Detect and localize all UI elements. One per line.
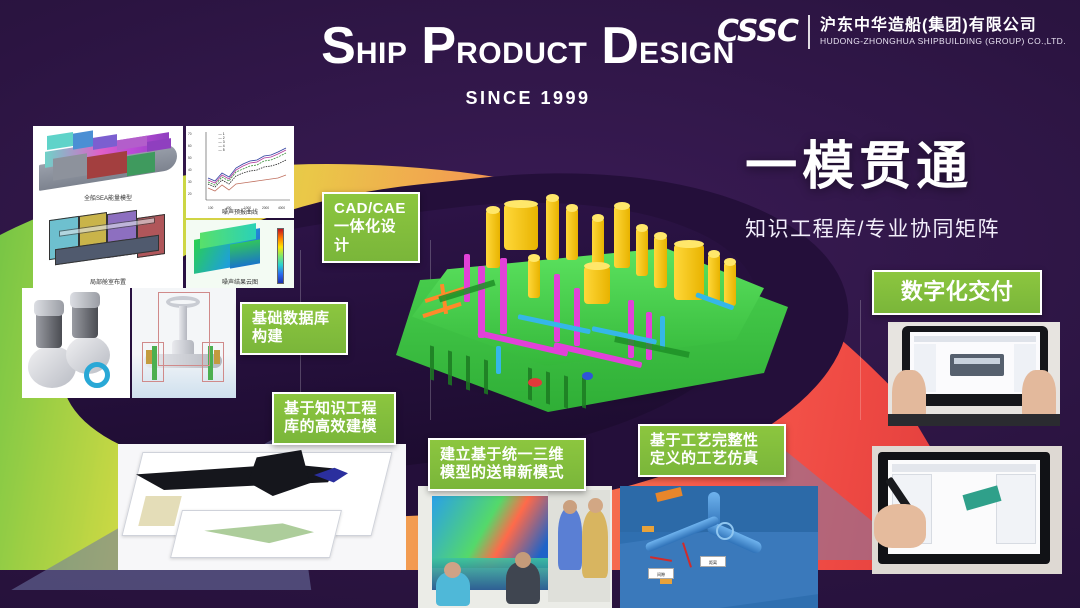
panel-caption-noise-curve: 噪声预报曲线 (186, 207, 294, 216)
connector-line-3 (860, 300, 861, 420)
tag-kbe-line-2: 库的高效建模 (284, 418, 384, 436)
hero-block: 一模贯通 知识工程库/专业协同矩阵 (745, 124, 1000, 243)
slide-header: SHIPPRODUCTDESIGN SINCE 1999 CSSC 沪东中华造船… (0, 0, 1080, 120)
tag-process-sim-line-1: 基于工艺完整性 (650, 432, 774, 450)
panel-design-review-room (418, 486, 612, 608)
tag-3d-review-line-1: 建立基于统一三维 (440, 446, 574, 464)
company-names: 沪东中华造船(集团)有限公司 HUDONG-ZHONGHUA SHIPBUILD… (820, 17, 1066, 46)
sea-energy-ship-graphic (35, 130, 181, 200)
pump-graphic (22, 288, 130, 398)
tag-process-simulation[interactable]: 基于工艺完整性 定义的工艺仿真 (638, 424, 786, 477)
tag-cad-cae[interactable]: CAD/CAE 一体化设计 (322, 192, 420, 263)
panel-noise-cloud: 噪声结果云图 (186, 220, 294, 288)
tag-3d-review[interactable]: 建立基于统一三维 模型的送审新模式 (428, 438, 586, 491)
title-word-2-cap: P (421, 17, 456, 75)
panel-sea-model: 全船SEA能量模型 局部舱室布置 (33, 126, 183, 288)
company-name-en: HUDONG-ZHONGHUA SHIPBUILDING (GROUP) CO.… (820, 36, 1066, 46)
tag-kbe-line-1: 基于知识工程 (284, 400, 384, 418)
tag-cad-cae-line-2: 一体化设计 (334, 218, 408, 255)
tag-cad-cae-line-1: CAD/CAE (334, 200, 408, 218)
tag-3d-review-line-2: 模型的送审新模式 (440, 464, 574, 482)
pipe-sim-label-2: 距离 (700, 556, 726, 567)
company-name-cn: 沪东中华造船(集团)有限公司 (820, 17, 1066, 36)
panel-caption-noise-cloud: 噪声结果云图 (186, 277, 294, 286)
review-room-photo (418, 486, 612, 608)
hero-title: 一模贯通 (745, 124, 1000, 199)
tag-process-sim-line-2: 定义的工艺仿真 (650, 450, 774, 468)
panel-pump-cad (22, 288, 130, 398)
blueprint-graphic (118, 444, 406, 570)
logo-divider (808, 15, 810, 49)
noise-chart-legend: — 1— 2— 3— 4— 5 (218, 132, 224, 152)
panel-tablet-delivery (888, 322, 1060, 426)
fem-color-legend (277, 228, 284, 284)
tablet-photo (888, 322, 1060, 426)
panel-caption-cabin: 局部舱室布置 (33, 277, 183, 286)
pipe-sim-graphic: 间隙 距离 (620, 486, 818, 608)
title-word-2-rest: RODUCT (456, 37, 587, 70)
title-word-1-rest: HIP (356, 37, 408, 70)
panel-stylus-workstation (872, 446, 1062, 574)
pipe-sim-label-1: 间隙 (648, 568, 674, 579)
ship-3d-model (378, 196, 798, 446)
panel-blueprint-model (118, 444, 406, 570)
title-word-1-cap: S (321, 17, 356, 75)
slide-canvas: SHIPPRODUCTDESIGN SINCE 1999 CSSC 沪东中华造船… (0, 0, 1080, 608)
noise-chart-svg (186, 126, 294, 218)
tag-digital-delivery[interactable]: 数字化交付 (872, 270, 1042, 315)
valve-graphic (132, 288, 236, 398)
cssc-logo: CSSC 沪东中华造船(集团)有限公司 HUDONG-ZHONGHUA SHIP… (717, 14, 1066, 49)
tag-database[interactable]: 基础数据库 构建 (240, 302, 348, 355)
page-title: SHIPPRODUCTDESIGN (318, 16, 738, 76)
tag-database-line-2: 构建 (252, 328, 336, 346)
tag-database-line-1: 基础数据库 (252, 310, 336, 328)
panel-pipe-simulation: 间隙 距离 (620, 486, 818, 608)
cssc-mark: CSSC (717, 14, 798, 49)
panel-noise-curve: — 1— 2— 3— 4— 5 70 60 50 40 30 20 100 40… (186, 126, 294, 218)
stylus-photo (872, 446, 1062, 574)
panel-valve-cad (132, 288, 236, 398)
title-word-3-cap: D (601, 17, 639, 75)
panel-caption-sea: 全船SEA能量模型 (33, 193, 183, 202)
tag-kbe-modeling[interactable]: 基于知识工程 库的高效建模 (272, 392, 396, 445)
tag-digital-delivery-line-1: 数字化交付 (884, 279, 1030, 306)
since-label: SINCE 1999 (318, 88, 738, 109)
noise-chart: — 1— 2— 3— 4— 5 70 60 50 40 30 20 100 40… (186, 126, 294, 218)
hero-subtitle: 知识工程库/专业协同矩阵 (745, 213, 1000, 243)
cabin-layout-graphic (49, 212, 167, 268)
